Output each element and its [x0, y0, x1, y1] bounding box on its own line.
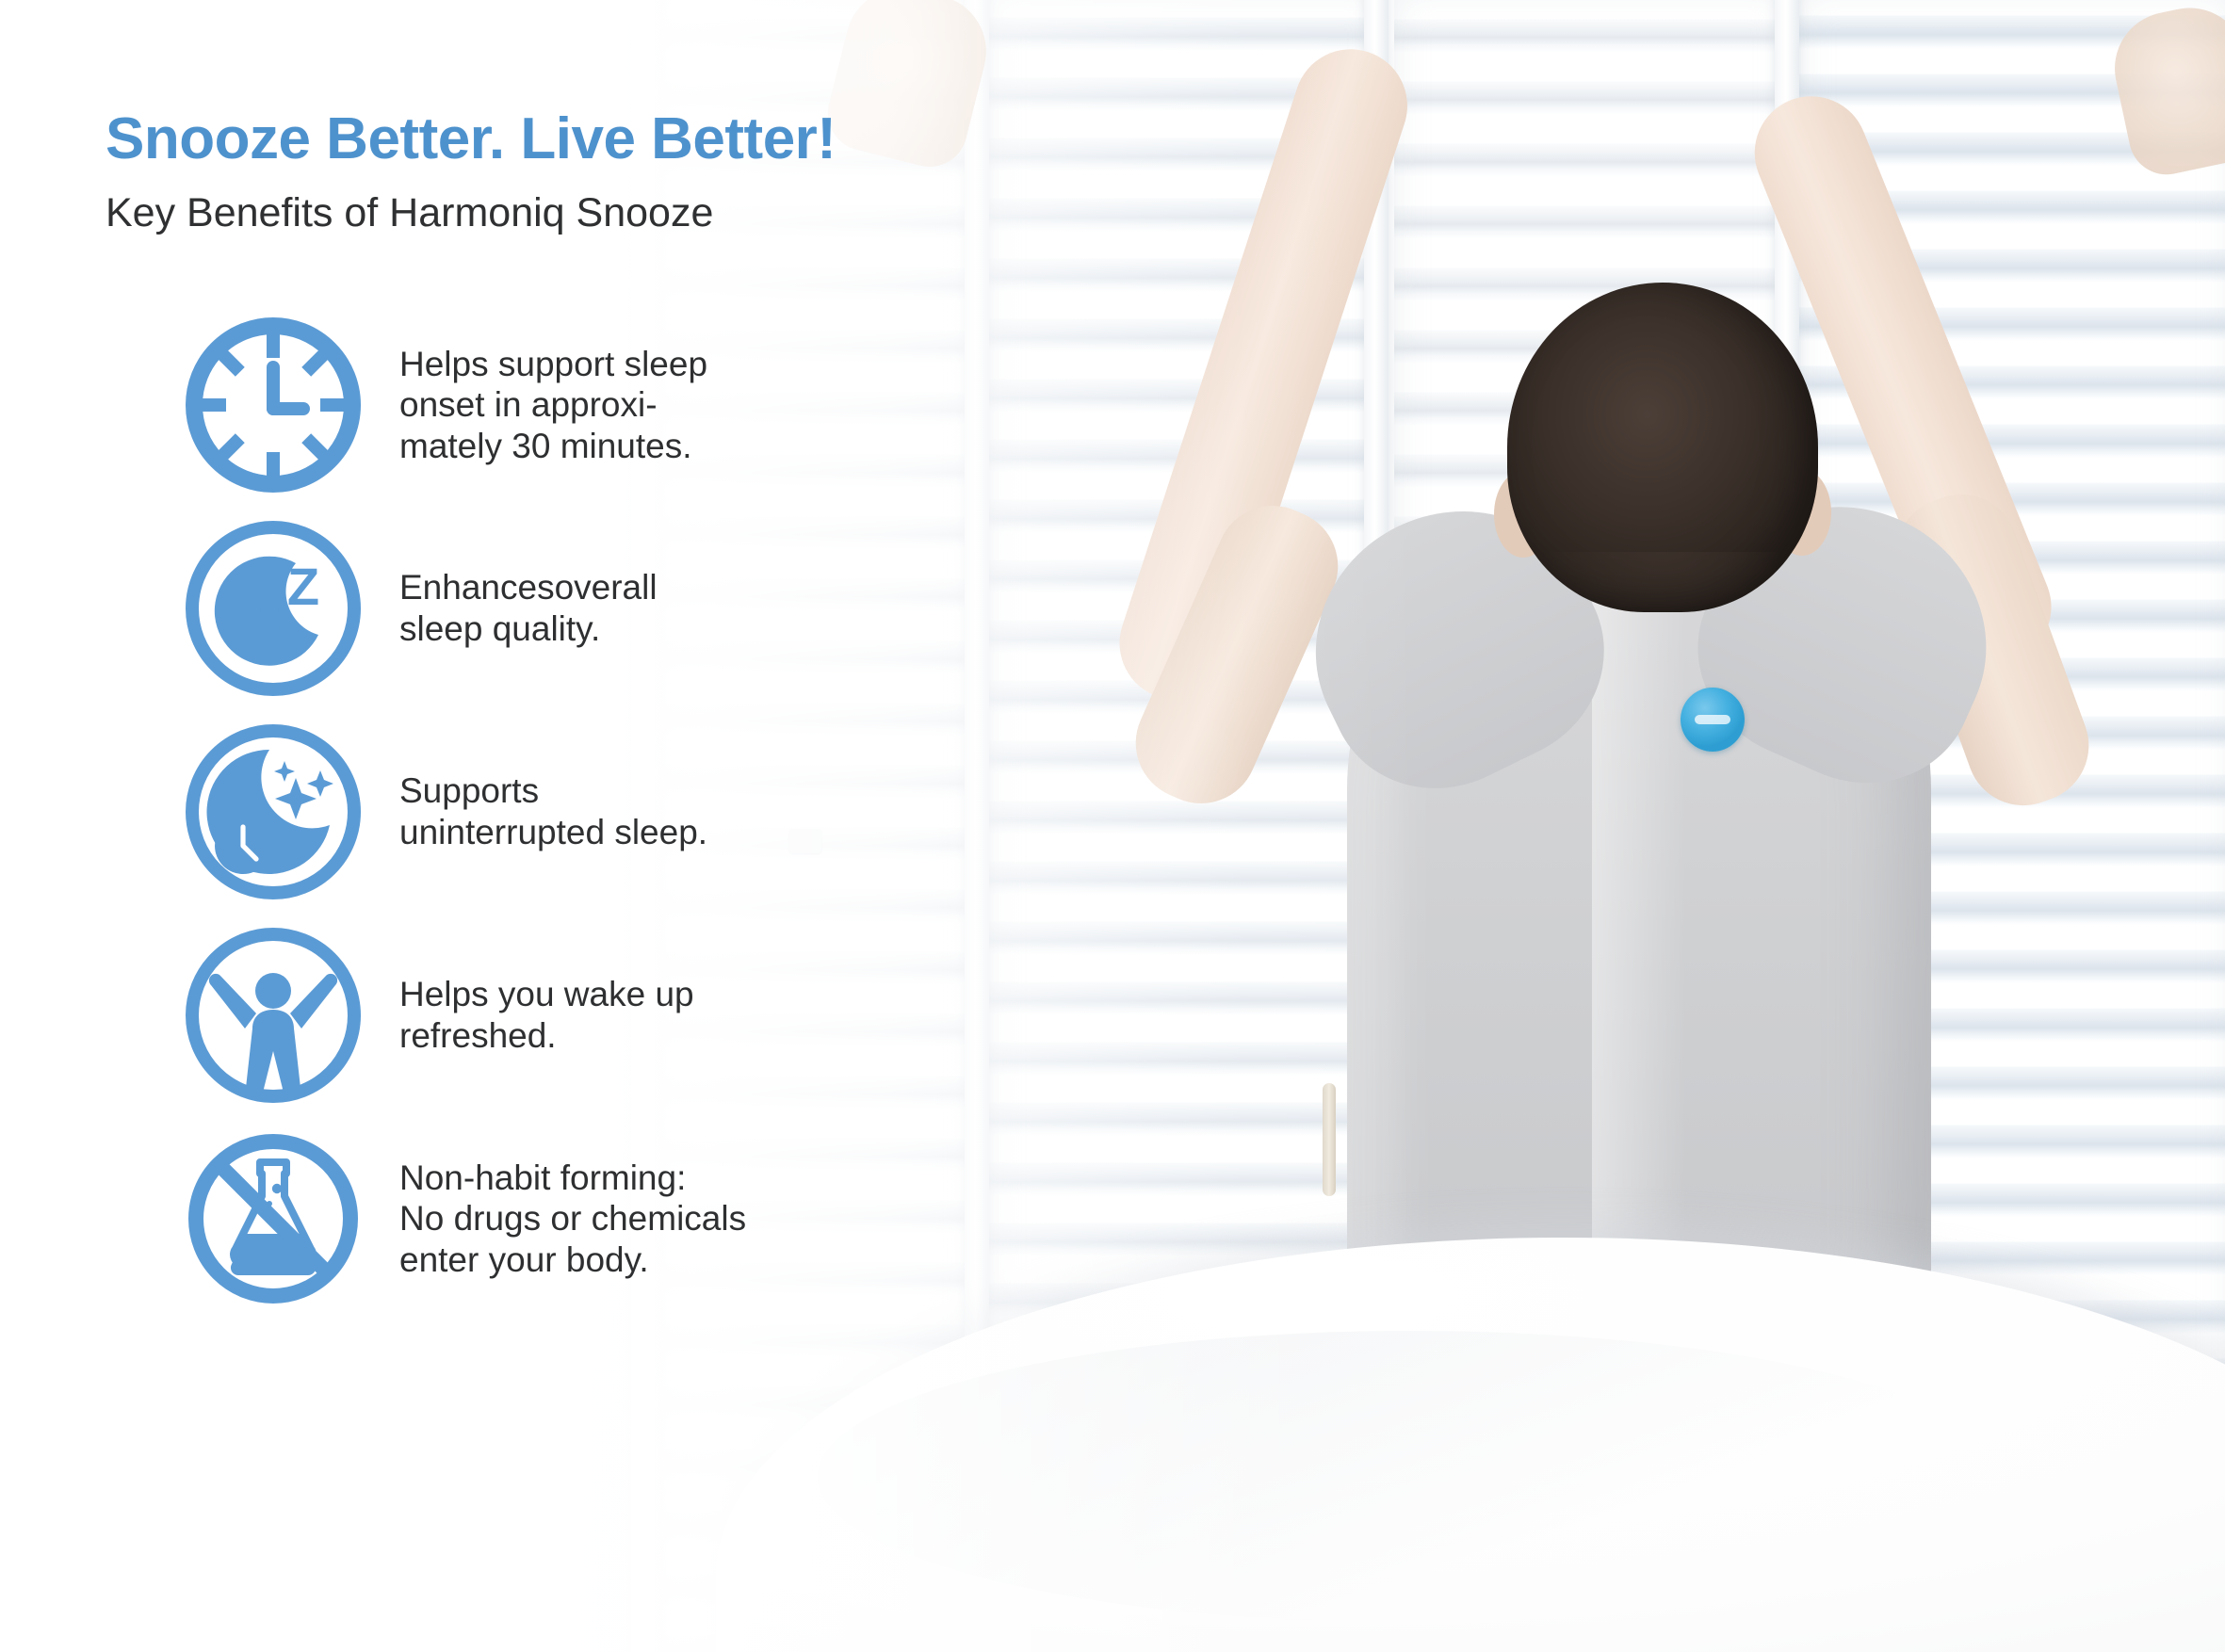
- benefit-item-sleep-quality: z Z Enhancesoverall sleep quality.: [179, 507, 895, 710]
- page-title: Snooze Better. Live Better!: [106, 105, 836, 172]
- svg-text:Z: Z: [287, 557, 319, 616]
- benefit-item-uninterrupted-sleep: Supports uninterrupted sleep.: [179, 710, 895, 914]
- benefit-item-sleep-onset: Helps support sleep onset in approxi- ma…: [179, 303, 895, 507]
- content-column: Snooze Better. Live Better! Key Benefits…: [0, 0, 942, 1652]
- neck-device-icon: [1681, 688, 1745, 752]
- benefit-item-non-habit-forming: Non-habit forming: No drugs or chemicals…: [179, 1117, 895, 1320]
- clock-icon: [179, 311, 367, 499]
- benefit-text: Non-habit forming: No drugs or chemicals…: [399, 1158, 746, 1281]
- svg-text:z: z: [258, 591, 281, 641]
- benefit-text: Enhancesoverall sleep quality.: [399, 567, 658, 649]
- benefit-item-wake-refreshed: Helps you wake up refreshed.: [179, 914, 895, 1117]
- benefit-text: Supports uninterrupted sleep.: [399, 770, 707, 852]
- moon-zzz-icon: z Z: [179, 514, 367, 703]
- page-subtitle: Key Benefits of Harmoniq Snooze: [106, 190, 713, 236]
- benefit-text: Helps support sleep onset in approxi- ma…: [399, 344, 707, 467]
- right-hand: [2104, 0, 2225, 182]
- no-flask-icon: [179, 1125, 367, 1313]
- moon-stars-clock-icon: [179, 718, 367, 906]
- head-with-dark-hair: [1507, 283, 1818, 612]
- benefit-text: Helps you wake up refreshed.: [399, 974, 694, 1056]
- poster-canvas: Snooze Better. Live Better! Key Benefits…: [0, 0, 2225, 1652]
- person-arms-raised-icon: [179, 921, 367, 1109]
- benefits-list: Helps support sleep onset in approxi- ma…: [179, 303, 895, 1320]
